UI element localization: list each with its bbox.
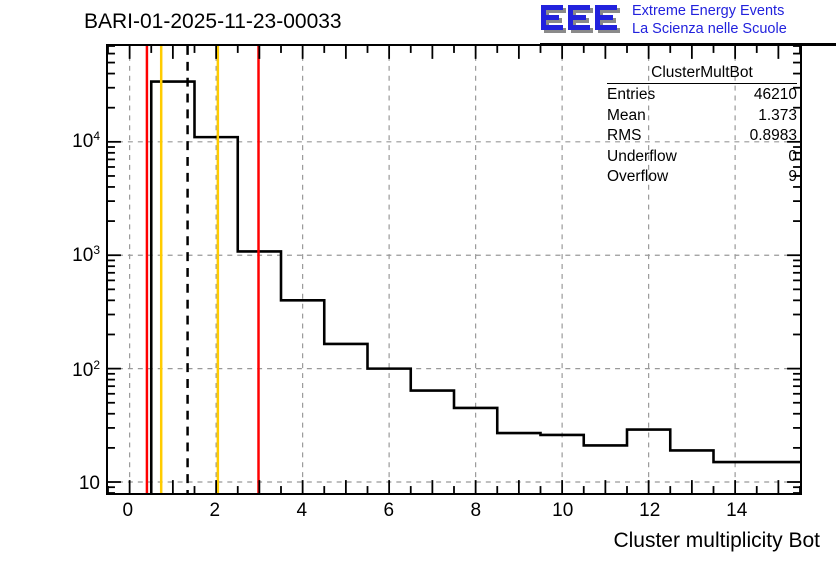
stats-row-key: Entries bbox=[607, 85, 655, 105]
page-title: BARI-01-2025-11-23-00033 bbox=[84, 10, 342, 34]
x-axis-title: Cluster multiplicity Bot bbox=[0, 529, 820, 553]
eee-logo: Extreme Energy Events La Scienza nelle S… bbox=[540, 2, 830, 42]
eee-logo-line2: La Scienza nelle Scuole bbox=[632, 20, 787, 38]
stats-row: RMS0.8983 bbox=[607, 125, 797, 146]
eee-logo-mark bbox=[540, 4, 624, 38]
x-tick-label: 4 bbox=[296, 500, 307, 522]
y-tick-label: 103 bbox=[72, 243, 100, 267]
y-axis-labels: 10102103104 bbox=[0, 44, 100, 495]
eee-logo-text: Extreme Energy Events La Scienza nelle S… bbox=[632, 2, 787, 38]
stats-row: Underflow0 bbox=[607, 146, 797, 167]
stats-row-key: Mean bbox=[607, 106, 646, 126]
stats-row-value: 0.8983 bbox=[750, 126, 797, 146]
y-tick-label: 102 bbox=[72, 357, 100, 381]
x-tick-label: 6 bbox=[383, 500, 394, 522]
stats-row-key: Underflow bbox=[607, 147, 677, 167]
stats-row-value: 1.373 bbox=[758, 106, 797, 126]
x-tick-label: 0 bbox=[122, 500, 133, 522]
x-tick-label: 12 bbox=[639, 500, 660, 522]
y-tick-label: 10 bbox=[79, 473, 100, 495]
eee-logo-line1: Extreme Energy Events bbox=[632, 2, 787, 20]
stats-title: ClusterMultBot bbox=[607, 64, 797, 84]
stats-row: Overflow9 bbox=[607, 166, 797, 187]
x-tick-label: 14 bbox=[726, 500, 747, 522]
x-tick-label: 8 bbox=[470, 500, 481, 522]
stats-box: ClusterMultBot Entries46210Mean1.373RMS0… bbox=[607, 64, 797, 187]
stats-row-key: RMS bbox=[607, 126, 641, 146]
stats-row-value: 9 bbox=[788, 167, 797, 187]
root-plot-canvas: BARI-01-2025-11-23-00033 bbox=[0, 0, 836, 572]
y-tick-label: 104 bbox=[72, 129, 100, 153]
x-axis-labels: 02468101214 bbox=[106, 500, 802, 526]
stats-row-value: 46210 bbox=[754, 85, 797, 105]
x-tick-label: 10 bbox=[552, 500, 573, 522]
stats-row: Mean1.373 bbox=[607, 105, 797, 126]
stats-row-key: Overflow bbox=[607, 167, 668, 187]
stats-rows: Entries46210Mean1.373RMS0.8983Underflow0… bbox=[607, 84, 797, 187]
stats-row: Entries46210 bbox=[607, 84, 797, 105]
x-tick-label: 2 bbox=[209, 500, 220, 522]
stats-row-value: 0 bbox=[788, 147, 797, 167]
